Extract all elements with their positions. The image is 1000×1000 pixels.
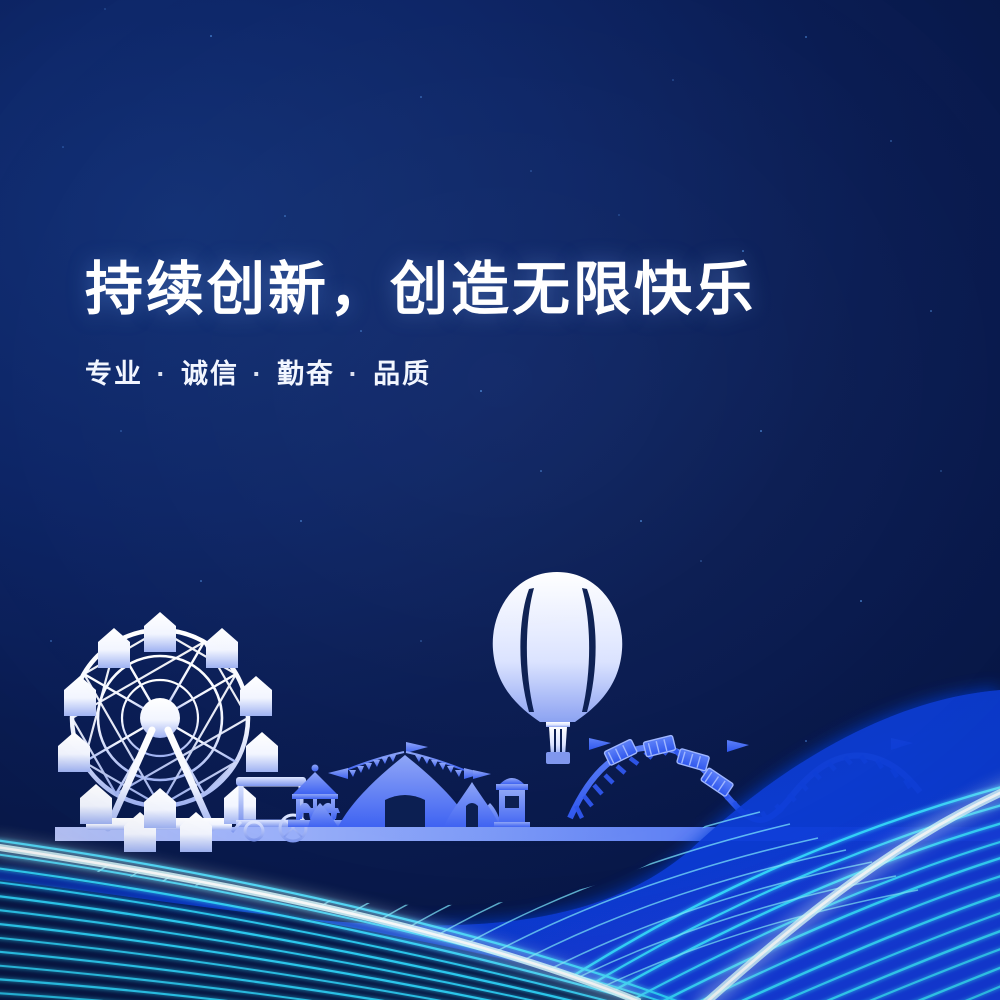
poster-canvas: 持续创新，创造无限快乐 专业 · 诚信 · 勤奋 · 品质: [0, 0, 1000, 1000]
subtitle-part-1: 专业: [85, 359, 143, 389]
page-subtitle: 专业 · 诚信 · 勤奋 · 品质: [85, 352, 756, 391]
flowing-light-mesh: [0, 0, 1000, 1000]
subtitle-part-4: 品质: [373, 359, 431, 389]
subtitle-separator-3: ·: [345, 359, 364, 389]
headline-block: 持续创新，创造无限快乐 专业 · 诚信 · 勤奋 · 品质: [85, 258, 756, 391]
subtitle-part-2: 诚信: [181, 359, 239, 389]
subtitle-separator-2: ·: [249, 359, 268, 389]
page-title: 持续创新，创造无限快乐: [85, 258, 756, 322]
subtitle-separator-1: ·: [153, 359, 172, 389]
subtitle-part-3: 勤奋: [277, 359, 335, 389]
